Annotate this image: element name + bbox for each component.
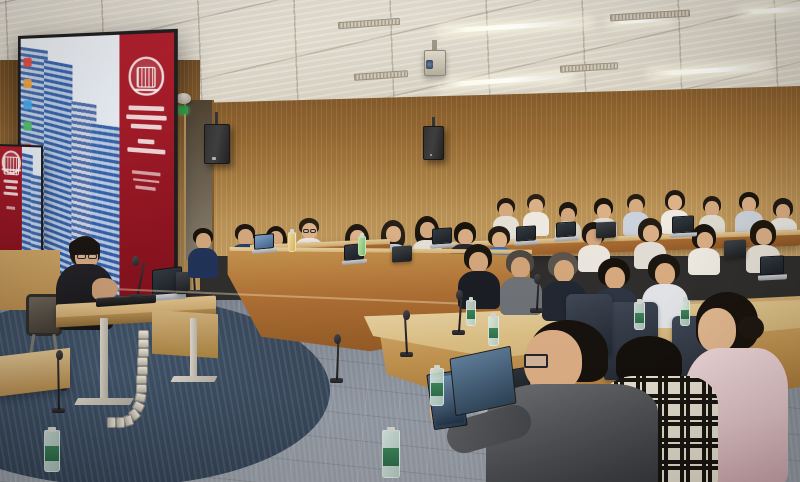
attendee-torso	[458, 271, 500, 309]
bottle-label	[383, 448, 399, 465]
water-bottle[interactable]	[488, 316, 499, 346]
wall-mounted-loudspeaker	[204, 124, 230, 164]
attendee-laptop[interactable]	[432, 228, 454, 250]
bottle-cap	[491, 313, 496, 318]
slide-text-line	[3, 180, 18, 184]
water-bottle[interactable]	[44, 430, 60, 472]
wall-mounted-loudspeaker	[423, 126, 444, 160]
water-bottle[interactable]	[430, 368, 444, 406]
slide-text-line	[136, 185, 156, 190]
university-crest-icon	[128, 56, 164, 96]
attendee-head	[469, 252, 488, 272]
slide-panel-text-block	[126, 106, 166, 192]
attendee-head	[668, 195, 682, 210]
bottle-cap	[360, 233, 363, 238]
laptop-screen	[672, 215, 694, 233]
attendee-torso	[188, 248, 218, 278]
attendee-glasses	[303, 229, 309, 233]
bottle-label	[45, 446, 59, 461]
attendee-torso	[688, 248, 720, 275]
attendee-head	[605, 267, 625, 289]
desk-leg-foot	[170, 376, 217, 382]
laptop-base[interactable]	[670, 232, 697, 237]
water-bottle[interactable]	[634, 302, 645, 330]
laptop-base[interactable]	[554, 236, 579, 242]
presenter-glasses	[88, 254, 97, 259]
bottle-label	[681, 310, 689, 319]
laptop-base[interactable]	[342, 259, 367, 265]
laptop-base[interactable]	[252, 248, 277, 254]
attendee-head	[238, 229, 253, 245]
desktop-icon[interactable]	[23, 101, 31, 110]
desk-leg-column	[190, 318, 197, 380]
lecture-hall-photo	[0, 0, 800, 482]
desk-monitor	[596, 221, 616, 238]
slide-text-line	[6, 206, 15, 210]
laptop-base[interactable]	[758, 274, 787, 281]
slide-text-line	[4, 192, 18, 196]
cable-chain-segment	[136, 375, 147, 384]
gooseneck-microphone-head	[456, 290, 463, 300]
slide-text-line	[128, 147, 165, 154]
water-bottle[interactable]	[466, 300, 476, 326]
attendee-laptop[interactable]	[254, 234, 276, 256]
desktop-icon[interactable]	[23, 122, 31, 132]
attendee-glasses	[524, 354, 548, 368]
cable-chain-segment	[137, 366, 148, 375]
microphone-base	[130, 294, 143, 299]
presenter-hair	[69, 238, 100, 255]
bottle-cap	[683, 297, 687, 302]
slide-text-line	[128, 106, 164, 112]
attendee-laptop[interactable]	[672, 216, 696, 240]
attendee-hair-bun	[738, 316, 764, 340]
cable-chain-segment	[116, 417, 125, 428]
attendee-head	[742, 197, 756, 212]
presenter-desk-modesty-panel	[152, 310, 218, 359]
attendee-laptop[interactable]	[760, 256, 786, 282]
laptop-screen	[516, 225, 536, 241]
laptop-screen	[760, 255, 784, 275]
bottle-cap	[469, 297, 473, 302]
slide-text-line	[132, 170, 160, 176]
dome-camera-icon	[176, 93, 191, 104]
gooseneck-microphone-head	[403, 310, 410, 320]
attendee-laptop[interactable]	[516, 226, 538, 248]
slide-text-line	[126, 115, 166, 121]
water-bottle[interactable]	[382, 430, 400, 478]
attendee-head	[776, 204, 790, 219]
presenter-glasses	[77, 254, 86, 259]
attendee-head	[458, 229, 473, 245]
attendee-head	[511, 257, 530, 278]
laptop-screen	[432, 227, 452, 244]
attendee-photographing	[494, 320, 654, 482]
attendee-head	[643, 225, 659, 242]
bottle-label	[635, 313, 644, 323]
desk-monitor	[724, 239, 746, 258]
water-bottle[interactable]	[288, 232, 296, 252]
university-crest-icon	[1, 150, 20, 174]
slide-panel-text-block	[3, 180, 19, 211]
ceiling-projector	[424, 50, 446, 76]
bottle-label	[467, 310, 475, 319]
desk-leg-foot	[74, 398, 134, 405]
desktop-icon[interactable]	[23, 79, 31, 88]
attendee	[504, 250, 538, 310]
attendee-head	[756, 228, 772, 245]
bottle-cap	[434, 365, 441, 370]
attendee-head	[705, 201, 719, 216]
cable-chain-segment	[138, 339, 149, 348]
gooseneck-microphone-head	[534, 274, 541, 284]
bottle-cap	[48, 427, 56, 432]
bottle-cap	[637, 299, 642, 304]
gooseneck-microphone-head	[334, 334, 341, 344]
slide-text-line	[134, 178, 159, 184]
bottle-label	[489, 328, 498, 339]
cable-chain-segment	[107, 417, 116, 428]
slide-text-line	[130, 124, 162, 130]
laptop-screen	[556, 221, 576, 237]
attendee-head	[655, 263, 675, 285]
cable-chain-segment	[138, 330, 149, 339]
slide-text-line	[138, 139, 154, 145]
laptop-base[interactable]	[514, 240, 539, 246]
attendee-head	[196, 233, 211, 249]
desktop-icon[interactable]	[23, 58, 31, 67]
attendee-glasses	[310, 229, 316, 233]
desk-monitor	[392, 245, 412, 262]
bottle-cap	[387, 427, 396, 432]
attendee-head	[554, 260, 574, 282]
attendee-head	[597, 204, 611, 219]
water-bottle[interactable]	[680, 300, 690, 326]
gooseneck-microphone-head	[56, 350, 63, 360]
exit-sign	[178, 106, 188, 114]
water-bottle[interactable]	[358, 236, 366, 256]
attendee-laptop[interactable]	[556, 222, 578, 244]
presenter-microphone-head	[132, 256, 139, 266]
attendee-head	[697, 232, 713, 249]
cable-chain-segment	[137, 357, 148, 366]
cable-management-chain	[132, 330, 152, 448]
bottle-cap	[290, 229, 293, 234]
attendee	[190, 228, 216, 274]
laptop-base[interactable]	[430, 243, 455, 249]
attendee	[462, 244, 496, 304]
bottle-label	[431, 383, 443, 397]
desk-leg-column	[100, 318, 108, 402]
slide-text-line	[5, 186, 16, 190]
cable-chain-segment	[138, 348, 149, 357]
